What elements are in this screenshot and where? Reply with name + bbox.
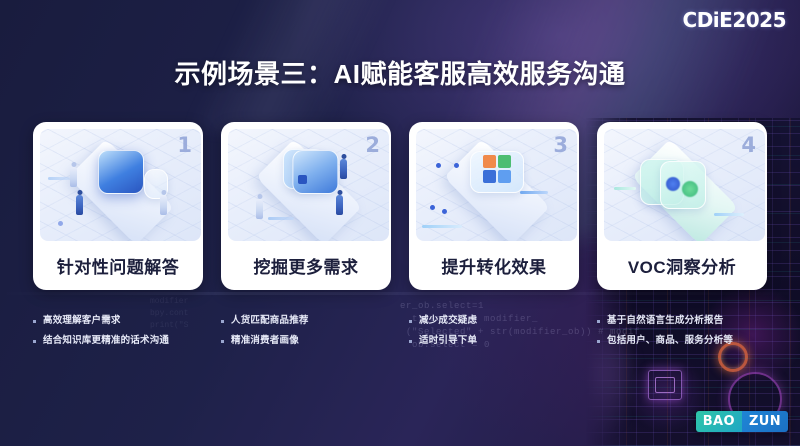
bullet-column-2: 人货匹配商品推荐 精准消费者画像 [221,314,391,354]
tile-blue [483,170,496,183]
accent-dot-3 [430,205,435,210]
card-4-number: 4 [741,133,756,157]
person-figure-1 [340,159,347,179]
person-figure-3 [336,195,343,215]
cdie-logo: CDiE2025 [683,8,786,32]
list-item: 基于自然语言生成分析报告 [597,314,767,327]
card-1[interactable]: 1 针对性问题解答 [33,122,203,290]
card-3-title: 提升转化效果 [416,241,572,290]
card-3-number: 3 [553,133,568,157]
bullet-column-4: 基于自然语言生成分析报告 包括用户、商品、服务分析等 [597,314,767,354]
accent-dot [298,175,307,184]
bullet-dot-icon [221,340,224,343]
card-3[interactable]: 3 提升转化效果 [409,122,579,290]
accent-bar-1 [520,191,548,194]
bullet-label: 适时引导下单 [419,334,477,347]
bullet-label: 精准消费者画像 [231,334,299,347]
card-4-title: VOC洞察分析 [604,241,760,290]
accent-bar-2 [422,225,462,228]
bullet-label: 人货匹配商品推荐 [231,314,309,327]
person-figure-2 [256,199,263,219]
card-1-illustration: 1 [40,129,201,241]
cpu-chip-icon [648,370,682,400]
card-row: 1 针对性问题解答 2 [33,122,767,290]
slide-canvas: er_ob.select=1 ts.active = modifier_ ("S… [0,0,800,446]
bullet-label: 基于自然语言生成分析报告 [607,314,723,327]
bullet-label: 包括用户、商品、服务分析等 [607,334,733,347]
tile-orange [483,155,496,168]
accent-bar-1 [614,187,636,190]
accent-blob-green [682,181,698,197]
bullet-column-1: 高效理解客户需求 结合知识库更精准的话术沟通 [33,314,203,354]
tile-lightblue [498,170,511,183]
list-item: 高效理解客户需求 [33,314,203,327]
bullet-dot-icon [221,320,224,323]
card-4[interactable]: 4 VOC洞察分析 [597,122,767,290]
list-item: 适时引导下单 [409,334,579,347]
list-item: 精准消费者画像 [221,334,391,347]
accent-dot-1 [436,163,441,168]
bullet-dot-icon [409,320,412,323]
bullet-label: 结合知识库更精准的话术沟通 [43,334,169,347]
bullet-label: 减少成交疑虑 [419,314,477,327]
tile-green [498,155,511,168]
bullet-lists: 高效理解客户需求 结合知识库更精准的话术沟通 人货匹配商品推荐 精准消费者画像 … [33,314,767,354]
accent-dot-4 [442,209,447,214]
person-figure-2 [70,167,77,187]
card-3-illustration: 3 [416,129,577,241]
bullet-column-3: 减少成交疑虑 适时引导下单 [409,314,579,354]
card-4-illustration: 4 [604,129,765,241]
chat-screen-icon [98,150,144,194]
card-1-title: 针对性问题解答 [40,241,196,290]
baozun-logo-bao: BAO [696,411,742,432]
list-item: 减少成交疑虑 [409,314,579,327]
page-title: 示例场景三：AI赋能客服高效服务沟通 [0,54,800,91]
person-figure-3 [160,195,167,215]
bullet-dot-icon [33,340,36,343]
baozun-logo-zun: ZUN [742,411,788,432]
bullet-dot-icon [597,320,600,323]
accent-bar [48,177,70,180]
person-figure-1 [76,195,83,215]
accent-dot-2 [454,163,459,168]
background-scanline [0,292,800,295]
bullet-label: 高效理解客户需求 [43,314,121,327]
card-2-title: 挖掘更多需求 [228,241,384,290]
bullet-dot-icon [409,340,412,343]
accent-bar [268,217,294,220]
color-tiles-icon [483,155,511,183]
card-2-number: 2 [365,133,380,157]
list-item: 结合知识库更精准的话术沟通 [33,334,203,347]
accent-blob-blue [666,177,680,191]
bullet-dot-icon [597,340,600,343]
card-1-number: 1 [177,133,192,157]
card-2[interactable]: 2 挖掘更多需求 [221,122,391,290]
accent-bar-2 [714,213,744,216]
card-2-illustration: 2 [228,129,389,241]
panel-front-icon [292,150,338,194]
list-item: 包括用户、商品、服务分析等 [597,334,767,347]
accent-dot [58,221,63,226]
list-item: 人货匹配商品推荐 [221,314,391,327]
baozun-logo: BAO ZUN [696,411,788,432]
bullet-dot-icon [33,320,36,323]
